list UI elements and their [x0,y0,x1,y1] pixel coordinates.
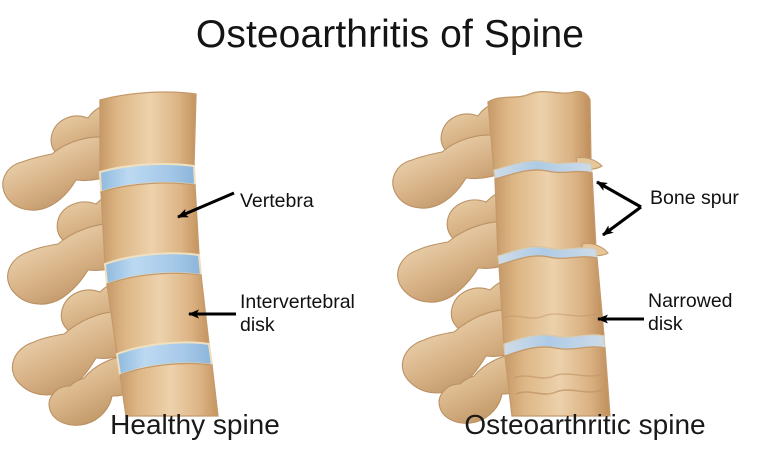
vertebral-body [495,170,596,256]
label-vertebra: Vertebra [240,190,314,213]
caption-osteoarthritic-spine: Osteoarthritic spine [390,408,780,442]
label-bone-spur: Bone spur [650,187,739,210]
label-intervertebral-disk: Intervertebral disk [240,291,355,337]
vertebral-body [101,183,199,264]
osteoarthritic-spine-illustration [390,86,780,416]
label-narrowed-disk: Narrowed disk [648,290,733,336]
vertebral-body [499,256,604,344]
osteoarthritic-vertebral-column [488,91,610,416]
panel-healthy-spine [0,86,390,416]
caption-healthy-spine: Healthy spine [0,408,390,442]
panel-osteoarthritic-spine [390,86,780,416]
vertebral-body [100,92,196,172]
vertebral-body [505,347,610,416]
osteoarthritis-of-spine-figure: Osteoarthritis of Spine [0,0,780,473]
page-title: Osteoarthritis of Spine [0,12,780,58]
healthy-spine-illustration [0,86,390,416]
